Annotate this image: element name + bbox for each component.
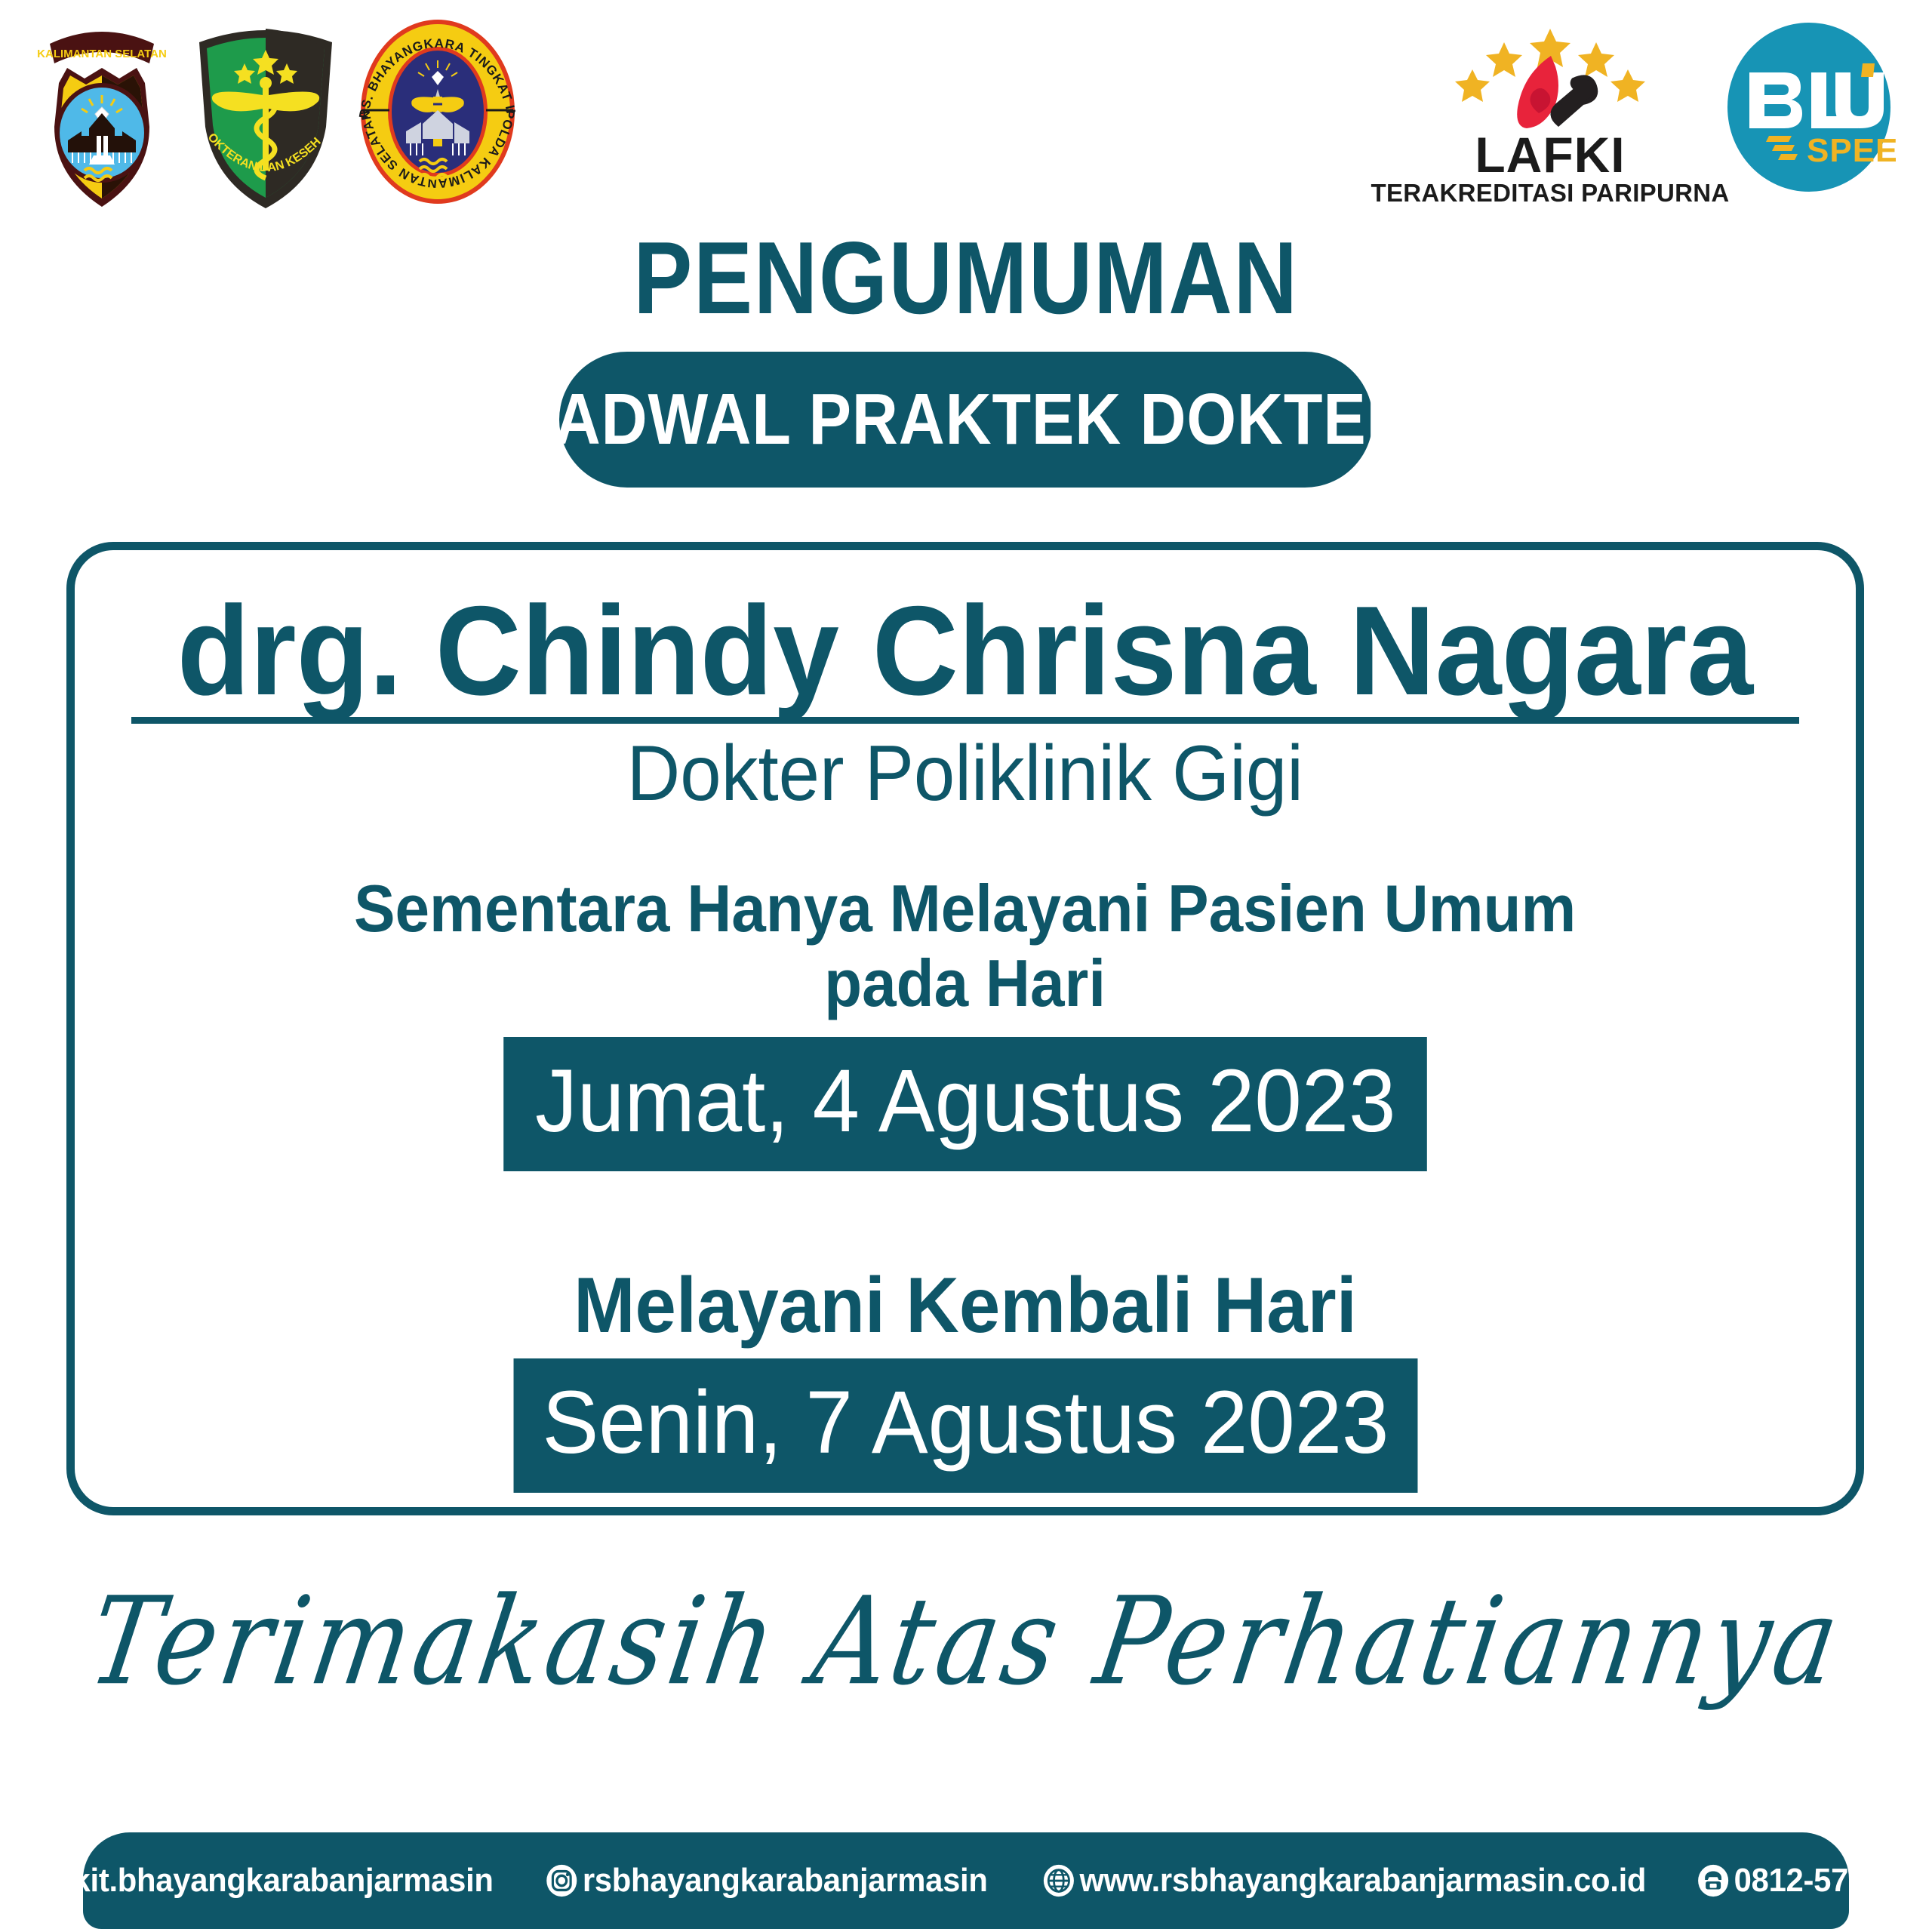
facebook-icon xyxy=(0,1863,9,1898)
lafki-accreditation-logo: LAFKI TERAKREDITASI PARIPURNA xyxy=(1399,23,1701,205)
service-notice-line2: pada Hari xyxy=(354,946,1576,1021)
footer-label-phone: 0812-5790-6306 xyxy=(1734,1862,1932,1900)
header-left-logos: KALIMANTAN SELATAN xyxy=(30,14,518,221)
page-title: PENGUMUMAN xyxy=(135,226,1797,329)
footer-item-website[interactable]: www.rsbhayangkarabanjarmasin.co.id xyxy=(1042,1862,1646,1900)
globe-icon xyxy=(1042,1863,1075,1898)
rs-bhayangkara-tingkat-iii-seal: RS. BHAYANGKARA TINGKAT III POLDA KALIMA… xyxy=(358,14,518,221)
footer-label-instagram: rsbhayangkarabanjarmasin xyxy=(583,1862,988,1900)
footer-item-instagram[interactable]: rsbhayangkarabanjarmasin xyxy=(546,1862,988,1900)
phone-icon xyxy=(1697,1863,1730,1898)
instagram-icon xyxy=(546,1863,579,1898)
return-heading: Melayani Kembali Hari xyxy=(574,1266,1357,1345)
lafki-subtitle: TERAKREDITASI PARIPURNA xyxy=(1371,180,1729,205)
svg-text:SPEED: SPEED xyxy=(1807,132,1896,169)
svg-text:KALIMANTAN SELATAN: KALIMANTAN SELATAN xyxy=(37,48,167,60)
return-date-badge: Senin, 7 Agustus 2023 xyxy=(513,1358,1417,1493)
contact-footer-bar: rumkit.bhayangkarabanjarmasin rsbhayangk… xyxy=(83,1832,1849,1929)
header-right-logos: LAFKI TERAKREDITASI PARIPURNA SPEED xyxy=(1399,23,1896,205)
footer-item-facebook[interactable]: rumkit.bhayangkarabanjarmasin xyxy=(0,1862,493,1900)
footer-label-website: www.rsbhayangkarabanjarmasin.co.id xyxy=(1080,1862,1647,1900)
announcement-subtitle-pill: JADWAL PRAKTEK DOKTER xyxy=(559,352,1373,488)
announcement-card: drg. Chindy Chrisna Nagara Dokter Polikl… xyxy=(66,542,1864,1515)
announcement-subtitle: JADWAL PRAKTEK DOKTER xyxy=(518,383,1414,456)
doctor-name: drg. Chindy Chrisna Nagara xyxy=(177,586,1753,715)
thank-you-message: Terimakasih Atas Perhatiannya xyxy=(0,1582,1932,1703)
kedokteran-dan-kesehatan-shield: KEDOKTERAN DAN KESEHATAN xyxy=(190,14,341,221)
blu-speed-logo: SPEED xyxy=(1722,23,1896,200)
doctor-role: Dokter Poliklinik Gigi xyxy=(627,734,1303,813)
service-notice: Sementara Hanya Melayani Pasien Umum pad… xyxy=(354,872,1576,1020)
polda-kalsel-emblem: KALIMANTAN SELATAN xyxy=(30,14,174,221)
service-notice-line1: Sementara Hanya Melayani Pasien Umum xyxy=(354,872,1576,946)
lafki-title: LAFKI xyxy=(1475,131,1625,179)
footer-label-facebook: rumkit.bhayangkarabanjarmasin xyxy=(14,1862,493,1900)
absent-date-badge: Jumat, 4 Agustus 2023 xyxy=(503,1037,1427,1171)
footer-item-phone[interactable]: 0812-5790-6306 xyxy=(1697,1862,1932,1900)
